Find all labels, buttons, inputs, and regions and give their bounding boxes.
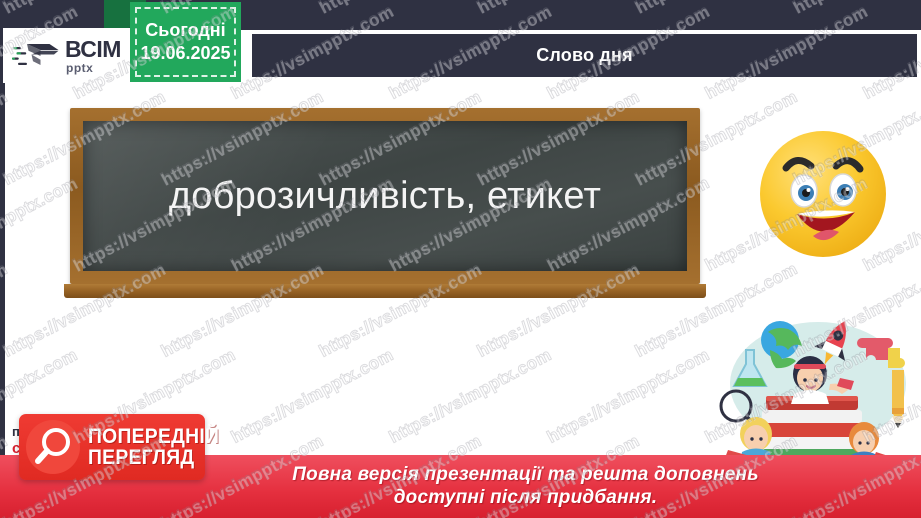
today-date-value: 19.06.2025 bbox=[140, 43, 230, 64]
preview-badge-text: ПОПЕРЕДНІЙ ПЕРЕГЛЯД bbox=[88, 426, 231, 468]
presentation-slide: ВСІМ pptx Сьогодні 19.06.2025 Слово дня … bbox=[0, 0, 921, 518]
today-label: Сьогодні bbox=[145, 20, 225, 41]
watermark-text: https://vsimpptx.com bbox=[386, 345, 555, 448]
preview-badge[interactable]: ПОПЕРЕДНІЙ ПЕРЕГЛЯД bbox=[19, 414, 205, 480]
watermark-text: https://vsimpptx.com bbox=[544, 345, 713, 448]
pencil-icon bbox=[892, 370, 904, 428]
page-title: Слово дня bbox=[536, 45, 633, 66]
blackboard-frame: доброзичливість, етикет bbox=[70, 108, 700, 284]
logo-subtitle: pptx bbox=[66, 62, 121, 74]
brand-logo[interactable]: ВСІМ pptx bbox=[3, 28, 142, 83]
blackboard-ledge bbox=[64, 284, 706, 298]
kids-reading-books-illustration bbox=[706, 302, 921, 477]
logo-title: ВСІМ bbox=[65, 38, 121, 61]
smiley-face-emoji bbox=[757, 128, 889, 260]
today-date-badge: Сьогодні 19.06.2025 bbox=[130, 2, 241, 82]
banner-line-1: Повна версія презентації та решта доповн… bbox=[292, 464, 758, 486]
watermark-text: https://vsimpptx.com bbox=[228, 345, 397, 448]
blackboard-surface: доброзичливість, етикет bbox=[83, 121, 687, 271]
books-stack bbox=[762, 396, 862, 463]
watermark-text: https://vsimpptx.com bbox=[0, 173, 81, 276]
preview-line-1: ПОПЕРЕДНІЙ bbox=[88, 426, 219, 447]
preview-line-2: ПЕРЕГЛЯД bbox=[88, 447, 219, 468]
banner-line-2: доступні після придбання. bbox=[394, 487, 658, 509]
slide-title-bar: Слово дня bbox=[252, 34, 917, 77]
graduation-cap-icon bbox=[12, 38, 60, 74]
blackboard: доброзичливість, етикет bbox=[70, 108, 700, 284]
magnifier-icon bbox=[25, 419, 81, 475]
logo-wordmark: ВСІМ pptx bbox=[65, 38, 121, 74]
blackboard-text: доброзичливість, етикет bbox=[159, 175, 611, 218]
